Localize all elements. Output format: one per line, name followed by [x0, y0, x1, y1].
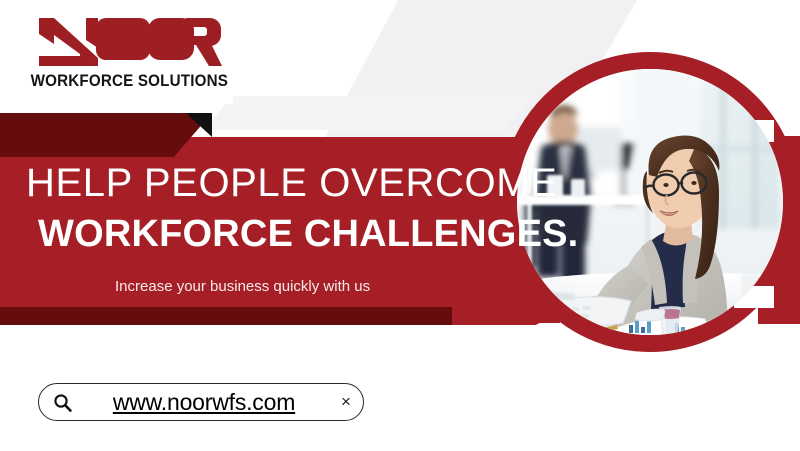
logo-card[interactable]: WORKFORCE SOLUTIONS [25, 0, 233, 104]
url-search-bar[interactable]: www.noorwfs.com × [38, 383, 364, 421]
headline-line-1: HELP PEOPLE OVERCOME [0, 160, 500, 206]
headline-group: HELP PEOPLE OVERCOME WORKFORCE CHALLENGE… [0, 160, 500, 295]
noor-logotype-icon [36, 14, 222, 70]
headline-subtitle: Increase your business quickly with us [0, 256, 500, 295]
search-icon[interactable] [45, 393, 79, 412]
marketing-banner: WORKFORCE SOLUTIONS HELP PEOPLE OVERCOME… [0, 0, 800, 451]
headline-line-2: WORKFORCE CHALLENGES. [0, 206, 500, 256]
background-diagonal-shape-3 [203, 96, 532, 130]
dark-bottom-strip [0, 307, 452, 325]
url-text[interactable]: www.noorwfs.com [79, 389, 329, 416]
close-icon[interactable]: × [329, 392, 363, 412]
logo-tagline: WORKFORCE SOLUTIONS [30, 72, 227, 91]
